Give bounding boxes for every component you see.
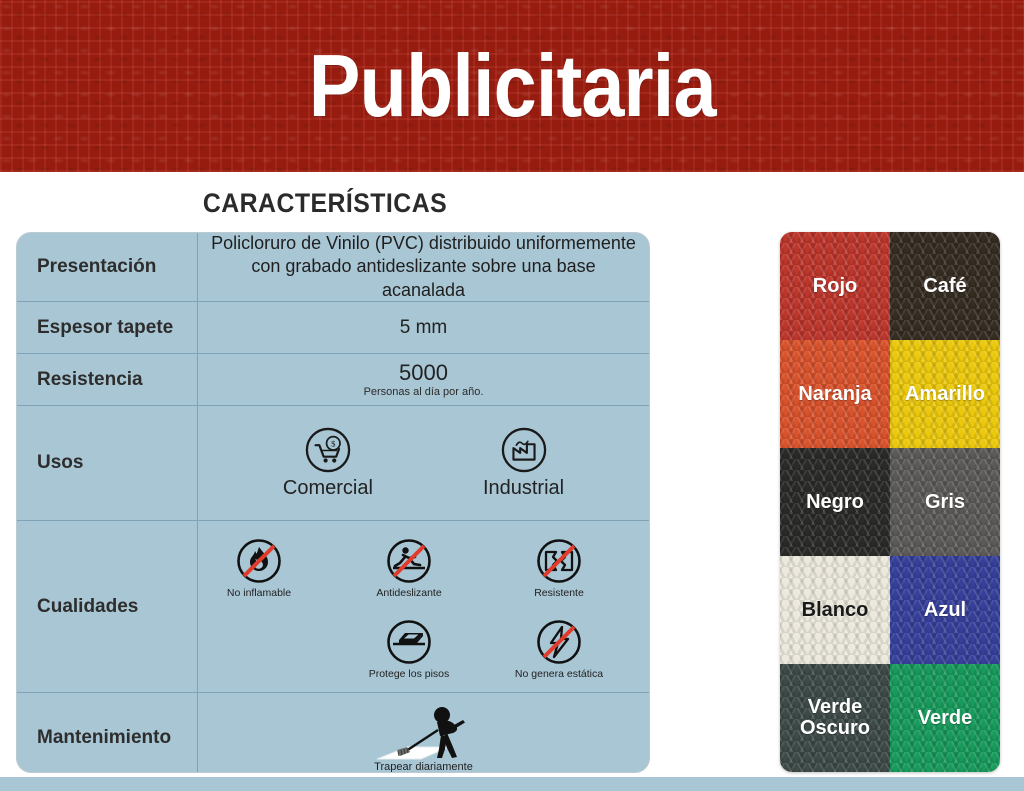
swatch-naranja[interactable]: Naranja xyxy=(780,340,890,448)
swatch-rojo[interactable]: Rojo xyxy=(780,232,890,340)
swatch-amarillo[interactable]: Amarillo xyxy=(890,340,1000,448)
cualidad-resistente: Resistente xyxy=(504,537,614,599)
swatch-negro[interactable]: Negro xyxy=(780,448,890,556)
swatch-verde[interactable]: Verde xyxy=(890,664,1000,772)
uso-label-comercial: Comercial xyxy=(283,477,373,500)
swatch-label-gris: Gris xyxy=(925,492,965,513)
table-row-mantenimiento: Mantenimiento Trapear diar xyxy=(17,692,649,772)
page-title: Publicitaria xyxy=(309,42,716,130)
swatch-label-naranja: Naranja xyxy=(798,384,871,405)
section-title: CARACTERÍSTICAS xyxy=(26,188,624,219)
no-tear-icon xyxy=(535,537,583,585)
cualidad-label-protege-pisos: Protege los pisos xyxy=(369,668,450,680)
bottom-accent-bar xyxy=(0,777,1024,791)
cualidad-antideslizante: Antideslizante xyxy=(354,537,464,599)
swatch-label-negro: Negro xyxy=(806,492,864,513)
table-row-espesor: Espesor tapete 5 mm xyxy=(17,301,649,353)
cualidades-line-2: Protege los pisos No genera estática xyxy=(204,618,649,680)
no-flame-icon xyxy=(235,537,283,585)
swatch-label-rojo: Rojo xyxy=(813,276,857,297)
row-label-usos: Usos xyxy=(17,406,198,520)
no-slip-icon xyxy=(385,537,433,585)
swatch-blanco[interactable]: Blanco xyxy=(780,556,890,664)
color-swatch-panel: Rojo Café Naranja Amarillo Negro Gris Bl… xyxy=(780,232,1000,772)
cualidad-protege-pisos: Protege los pisos xyxy=(354,618,464,680)
uso-item-industrial: Industrial xyxy=(483,427,564,500)
row-value-cualidades: No inflamable xyxy=(198,521,649,692)
row-label-resistencia: Resistencia xyxy=(17,354,198,405)
cualidad-label-no-inflamable: No inflamable xyxy=(227,587,291,599)
row-label-presentacion: Presentación xyxy=(17,233,198,301)
swatch-label-cafe: Café xyxy=(923,276,966,297)
svg-text:$: $ xyxy=(331,438,336,448)
swatch-label-azul: Azul xyxy=(924,600,966,621)
mantenimiento-label: Trapear diariamente xyxy=(374,761,473,773)
specifications-table: Presentación Policloruro de Vinilo (PVC)… xyxy=(17,233,649,772)
no-static-icon xyxy=(535,618,583,666)
row-value-resistencia: 5000 Personas al día por año. xyxy=(198,354,649,405)
floor-protect-icon xyxy=(385,618,433,666)
cualidad-label-no-estatica: No genera estática xyxy=(515,668,603,680)
swatch-azul[interactable]: Azul xyxy=(890,556,1000,664)
swatch-label-verde: Verde xyxy=(918,708,972,729)
row-label-cualidades: Cualidades xyxy=(17,521,198,692)
swatch-verde-oscuro[interactable]: Verde Oscuro xyxy=(780,664,890,772)
row-value-usos: $ Comercial xyxy=(198,406,649,520)
presentacion-text: Policloruro de Vinilo (PVC) distribuido … xyxy=(210,233,637,302)
page-header: Publicitaria xyxy=(0,0,1024,172)
row-label-mantenimiento: Mantenimiento xyxy=(17,693,198,772)
mopping-person-icon xyxy=(359,703,489,765)
resistencia-value: 5000 xyxy=(399,361,448,384)
swatch-cafe[interactable]: Café xyxy=(890,232,1000,340)
swatch-gris[interactable]: Gris xyxy=(890,448,1000,556)
table-row-usos: Usos $ Comercial xyxy=(17,405,649,520)
swatch-label-amarillo: Amarillo xyxy=(905,384,985,405)
uso-label-industrial: Industrial xyxy=(483,477,564,500)
cualidades-line-1: No inflamable xyxy=(204,537,649,612)
cualidad-label-antideslizante: Antideslizante xyxy=(376,587,441,599)
factory-icon xyxy=(501,427,547,473)
row-value-mantenimiento: Trapear diariamente xyxy=(198,693,649,772)
row-value-espesor: 5 mm xyxy=(198,302,649,353)
uso-item-comercial: $ Comercial xyxy=(283,427,373,500)
table-row-resistencia: Resistencia 5000 Personas al día por año… xyxy=(17,353,649,405)
shopping-cart-money-icon: $ xyxy=(305,427,351,473)
swatch-label-verde-oscuro: Verde Oscuro xyxy=(780,697,890,739)
table-row-cualidades: Cualidades No inflamable xyxy=(17,520,649,692)
cualidad-no-inflamable: No inflamable xyxy=(204,537,314,599)
cualidad-label-resistente: Resistente xyxy=(534,587,584,599)
table-row-presentacion: Presentación Policloruro de Vinilo (PVC)… xyxy=(17,233,649,301)
row-value-presentacion: Policloruro de Vinilo (PVC) distribuido … xyxy=(198,233,649,301)
row-label-espesor: Espesor tapete xyxy=(17,302,198,353)
swatch-label-blanco: Blanco xyxy=(802,600,869,621)
cualidad-no-estatica: No genera estática xyxy=(504,618,614,680)
espesor-text: 5 mm xyxy=(400,317,448,339)
resistencia-note: Personas al día por año. xyxy=(364,386,484,398)
